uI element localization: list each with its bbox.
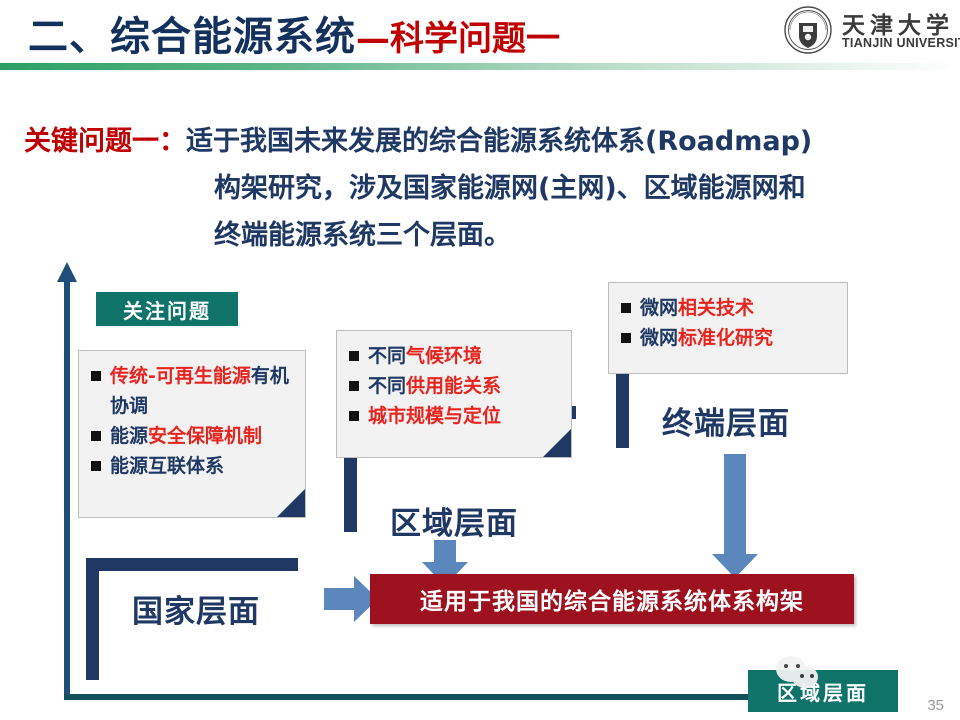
list-item-label: 不同气候环境 — [368, 341, 563, 371]
list-item: 传统-可再生能源有机协调 — [89, 361, 297, 421]
terminal-layer-label: 终端层面 — [662, 398, 790, 443]
bracket-top-bar — [86, 558, 298, 571]
list-item-label: 微网相关技术 — [640, 293, 839, 323]
national-issues-card: 传统-可再生能源有机协调 能源安全保障机制 能源互联体系 — [78, 350, 306, 518]
axis-horizontal-line — [64, 694, 754, 700]
regional-issues-card: 不同气候环境 不同供用能关系 城市规模与定位 — [336, 330, 572, 458]
tianjin-university-seal-icon — [784, 6, 832, 54]
conclusion-banner: 适用于我国的综合能源系统体系构架 — [370, 574, 854, 624]
list-item: 不同气候环境 — [347, 341, 563, 371]
regional-layer-label: 区域层面 — [390, 498, 518, 543]
list-item: 不同供用能关系 — [347, 371, 563, 401]
key-question-block: 关键问题一：适于我国未来发展的综合能源系统体系(Roadmap) 构架研究，涉及… — [24, 118, 940, 259]
list-item: 能源安全保障机制 — [89, 421, 297, 451]
page-title-main: 二、综合能源系统 — [28, 14, 356, 60]
corner-fold-icon — [543, 429, 571, 457]
card-list: 不同气候环境 不同供用能关系 城市规模与定位 — [337, 331, 571, 441]
list-item: 微网相关技术 — [619, 293, 839, 323]
list-item: 能源互联体系 — [89, 451, 297, 481]
axis-arrow-head-icon — [57, 262, 77, 282]
square-bullet-icon — [621, 333, 631, 343]
key-question-lead: 关键问题一： — [24, 126, 186, 157]
page-number: 35 — [927, 697, 944, 714]
square-bullet-icon — [349, 411, 359, 421]
square-bullet-icon — [91, 461, 101, 471]
page-title: 二、综合能源系统—科学问题一 — [28, 4, 560, 62]
bracket-left-bar — [86, 558, 99, 680]
list-item: 微网标准化研究 — [619, 323, 839, 353]
square-bullet-icon — [349, 381, 359, 391]
square-bullet-icon — [91, 371, 101, 381]
key-question-line-3: 终端能源系统三个层面。 — [24, 212, 940, 259]
list-item-label: 城市规模与定位 — [368, 401, 563, 431]
key-question-line-2: 构架研究，涉及国家能源网(主网)、区域能源网和 — [24, 165, 940, 212]
header-divider — [0, 63, 960, 70]
national-layer-label: 国家层面 — [132, 586, 260, 631]
slide-header: 二、综合能源系统—科学问题一 天津大学 TIANJIN UNIVERSITY — [0, 0, 960, 70]
axis-vertical-line — [64, 280, 70, 700]
terminal-issues-card: 微网相关技术 微网标准化研究 — [608, 282, 848, 374]
list-item-label: 能源互联体系 — [110, 451, 297, 481]
architecture-diagram: 关注问题 传统-可再生能源有机协调 能源安全保障机制 能源互联体系 不同气候环境… — [0, 258, 960, 698]
logo-text-en: TIANJIN UNIVERSITY — [842, 36, 960, 50]
arrow-shaft — [324, 588, 354, 610]
arrow-shaft — [434, 540, 456, 562]
square-bullet-icon — [621, 303, 631, 313]
list-item-label: 传统-可再生能源有机协调 — [110, 361, 297, 421]
university-logo: 天津大学 TIANJIN UNIVERSITY — [784, 6, 944, 58]
logo-text-cn: 天津大学 — [842, 6, 954, 40]
list-item-label: 能源安全保障机制 — [110, 421, 297, 451]
square-bullet-icon — [91, 431, 101, 441]
page-title-sub: —科学问题一 — [356, 19, 560, 59]
corner-fold-icon — [277, 489, 305, 517]
list-item-label: 微网标准化研究 — [640, 323, 839, 353]
slide-root: 二、综合能源系统—科学问题一 天津大学 TIANJIN UNIVERSITY 关… — [0, 0, 960, 720]
card-list: 传统-可再生能源有机协调 能源安全保障机制 能源互联体系 — [79, 351, 305, 491]
watermark-bubble — [792, 666, 818, 688]
key-question-line-1: 关键问题一：适于我国未来发展的综合能源系统体系(Roadmap) — [24, 118, 940, 165]
wechat-watermark-icon — [770, 652, 880, 696]
key-question-line-1-text: 适于我国未来发展的综合能源系统体系(Roadmap) — [186, 126, 812, 157]
square-bullet-icon — [349, 351, 359, 361]
focus-issues-chip: 关注问题 — [96, 292, 238, 326]
arrow-shaft — [724, 454, 746, 554]
list-item: 城市规模与定位 — [347, 401, 563, 431]
card-list: 微网相关技术 微网标准化研究 — [609, 283, 847, 363]
list-item-label: 不同供用能关系 — [368, 371, 563, 401]
